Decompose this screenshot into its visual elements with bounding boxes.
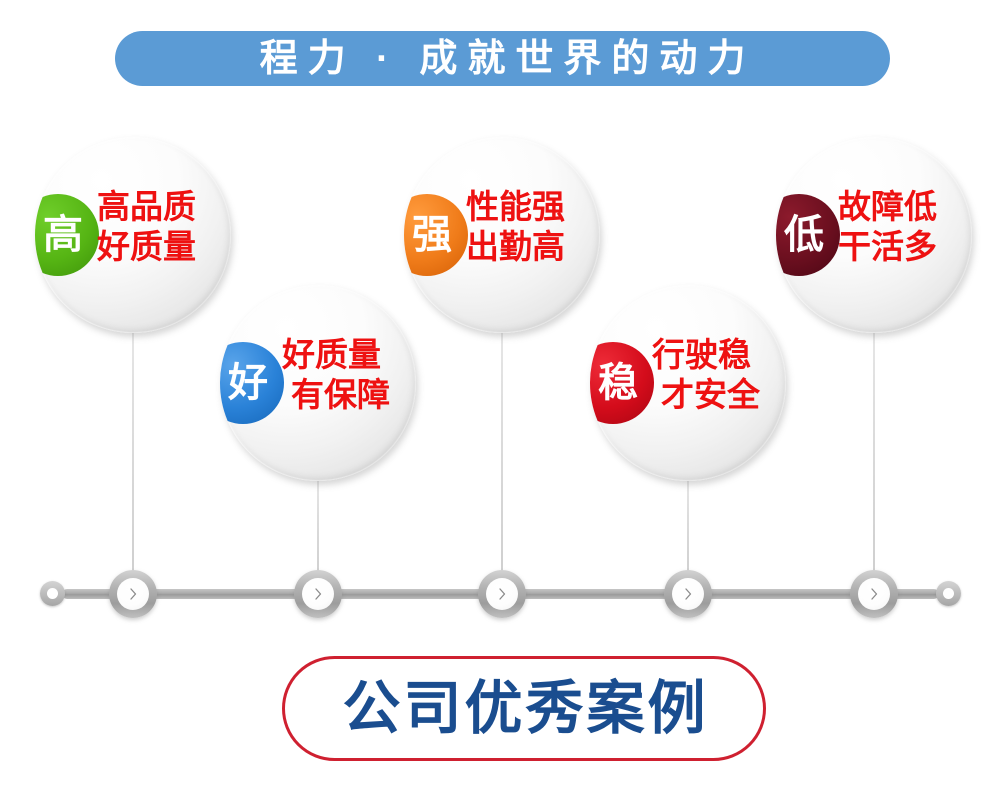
ring-dot-icon-left	[40, 581, 65, 606]
chevron-right-icon	[867, 587, 881, 601]
connector-stem-3	[501, 330, 503, 580]
bubble-text-group: 行驶稳 才安全	[652, 335, 782, 416]
connector-stem-1	[132, 330, 134, 580]
timeline-marker-5[interactable]	[850, 570, 898, 618]
marker-inner	[858, 578, 890, 610]
marker-inner	[302, 578, 334, 610]
badge-icon-di: 低	[776, 194, 840, 276]
badge-icon-wen: 稳	[590, 342, 654, 424]
infographic-page: 程力 · 成就世界的动力 高 高品质 好质量 好 好质量 有保障 强 性能强 出…	[0, 0, 1000, 796]
chevron-right-icon	[681, 587, 695, 601]
connector-stem-4	[687, 478, 689, 580]
feature-bubble-high-quality[interactable]: 高 高品质 好质量	[35, 137, 231, 333]
chevron-right-icon	[311, 587, 325, 601]
footer-caption-box[interactable]: 公司优秀案例	[282, 656, 766, 761]
badge-label: 高	[35, 215, 83, 255]
bubble-line-2: 干活多	[838, 227, 968, 267]
badge-label: 稳	[590, 363, 638, 403]
feature-bubble-stability[interactable]: 稳 行驶稳 才安全	[590, 285, 786, 481]
bubble-line-2: 有保障	[282, 375, 412, 415]
timeline-marker-2[interactable]	[294, 570, 342, 618]
badge-icon-qiang: 强	[404, 194, 468, 276]
badge-icon-gao: 高	[35, 194, 99, 276]
bubble-text-group: 故障低 干活多	[838, 187, 968, 268]
ring-dot-icon-right	[936, 581, 961, 606]
connector-stem-2	[317, 478, 319, 580]
page-title: 程力 · 成就世界的动力	[115, 31, 890, 86]
badge-label: 强	[404, 215, 452, 255]
bubble-text-group: 高品质 好质量	[97, 187, 227, 268]
bubble-line-1: 高品质	[97, 187, 227, 227]
bubble-line-1: 好质量	[282, 335, 412, 375]
bubble-line-2: 出勤高	[466, 227, 596, 267]
bubble-line-1: 故障低	[838, 187, 968, 227]
timeline-marker-1[interactable]	[109, 570, 157, 618]
feature-bubble-performance[interactable]: 强 性能强 出勤高	[404, 137, 600, 333]
bubble-text-group: 好质量 有保障	[282, 335, 412, 416]
feature-bubble-low-failure[interactable]: 低 故障低 干活多	[776, 137, 972, 333]
chevron-right-icon	[126, 587, 140, 601]
connector-stem-5	[873, 330, 875, 580]
bubble-line-1: 行驶稳	[652, 335, 782, 375]
marker-inner	[672, 578, 704, 610]
marker-inner	[486, 578, 518, 610]
badge-icon-hao: 好	[220, 342, 284, 424]
header-banner: 程力 · 成就世界的动力	[115, 31, 890, 86]
badge-label: 好	[220, 363, 268, 403]
marker-inner	[117, 578, 149, 610]
footer-caption-text: 公司优秀案例	[339, 680, 708, 738]
bubble-text-group: 性能强 出勤高	[466, 187, 596, 268]
feature-bubble-good-quality[interactable]: 好 好质量 有保障	[220, 285, 416, 481]
bubble-line-1: 性能强	[466, 187, 596, 227]
timeline-marker-3[interactable]	[478, 570, 526, 618]
bubble-line-2: 才安全	[652, 375, 782, 415]
timeline-marker-4[interactable]	[664, 570, 712, 618]
bubble-line-2: 好质量	[97, 227, 227, 267]
badge-label: 低	[776, 215, 824, 255]
chevron-right-icon	[495, 587, 509, 601]
